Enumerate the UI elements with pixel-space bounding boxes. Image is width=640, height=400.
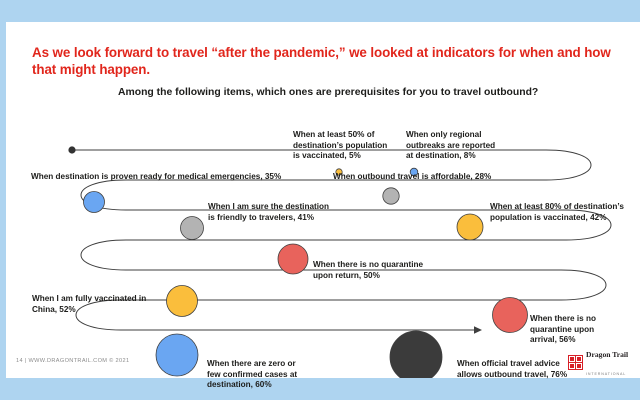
node-label: When at least 80% of destination’s popul…	[490, 202, 640, 223]
node-label: When there is no quarantine upon arrival…	[530, 314, 630, 346]
brand-logo: Dragon Trail INTERNATIONAL	[568, 351, 636, 373]
logo-text-block: Dragon Trail INTERNATIONAL	[586, 344, 628, 380]
node-label: When there is no quarantine upon return,…	[313, 260, 463, 281]
footer-credit: 14 | WWW.DRAGONTRAIL.COM © 2021	[16, 358, 129, 364]
snake-path-arrow	[461, 326, 482, 334]
dragon-trail-seal-icon	[568, 355, 583, 370]
node-label: When only regional outbreaks are reporte…	[406, 130, 516, 162]
node-label: When I am fully vaccinated in China, 52%	[32, 294, 184, 315]
node-label: When I am sure the destination is friend…	[208, 202, 358, 223]
node-circle[interactable]	[383, 188, 399, 204]
node-label: When there are zero or few confirmed cas…	[207, 359, 327, 391]
node-label: When destination is proven ready for med…	[31, 172, 331, 183]
node-circle[interactable]	[84, 192, 105, 213]
node-circle[interactable]	[390, 331, 442, 378]
logo-subtitle: INTERNATIONAL	[586, 372, 626, 376]
node-label: When at least 50% of destination’s popul…	[293, 130, 405, 162]
node-circle[interactable]	[156, 334, 198, 376]
slide-root: As we look forward to travel “after the …	[0, 0, 640, 400]
start-dot	[69, 147, 75, 153]
node-circle[interactable]	[493, 298, 528, 333]
node-circle[interactable]	[457, 214, 483, 240]
node-circle[interactable]	[181, 217, 204, 240]
slide-canvas: As we look forward to travel “after the …	[6, 22, 640, 378]
logo-name: Dragon Trail	[586, 350, 628, 359]
node-label: When outbound travel is affordable, 28%	[333, 172, 533, 183]
node-circle[interactable]	[278, 244, 308, 274]
snake-chart: When at least 50% of destination’s popul…	[6, 22, 640, 378]
